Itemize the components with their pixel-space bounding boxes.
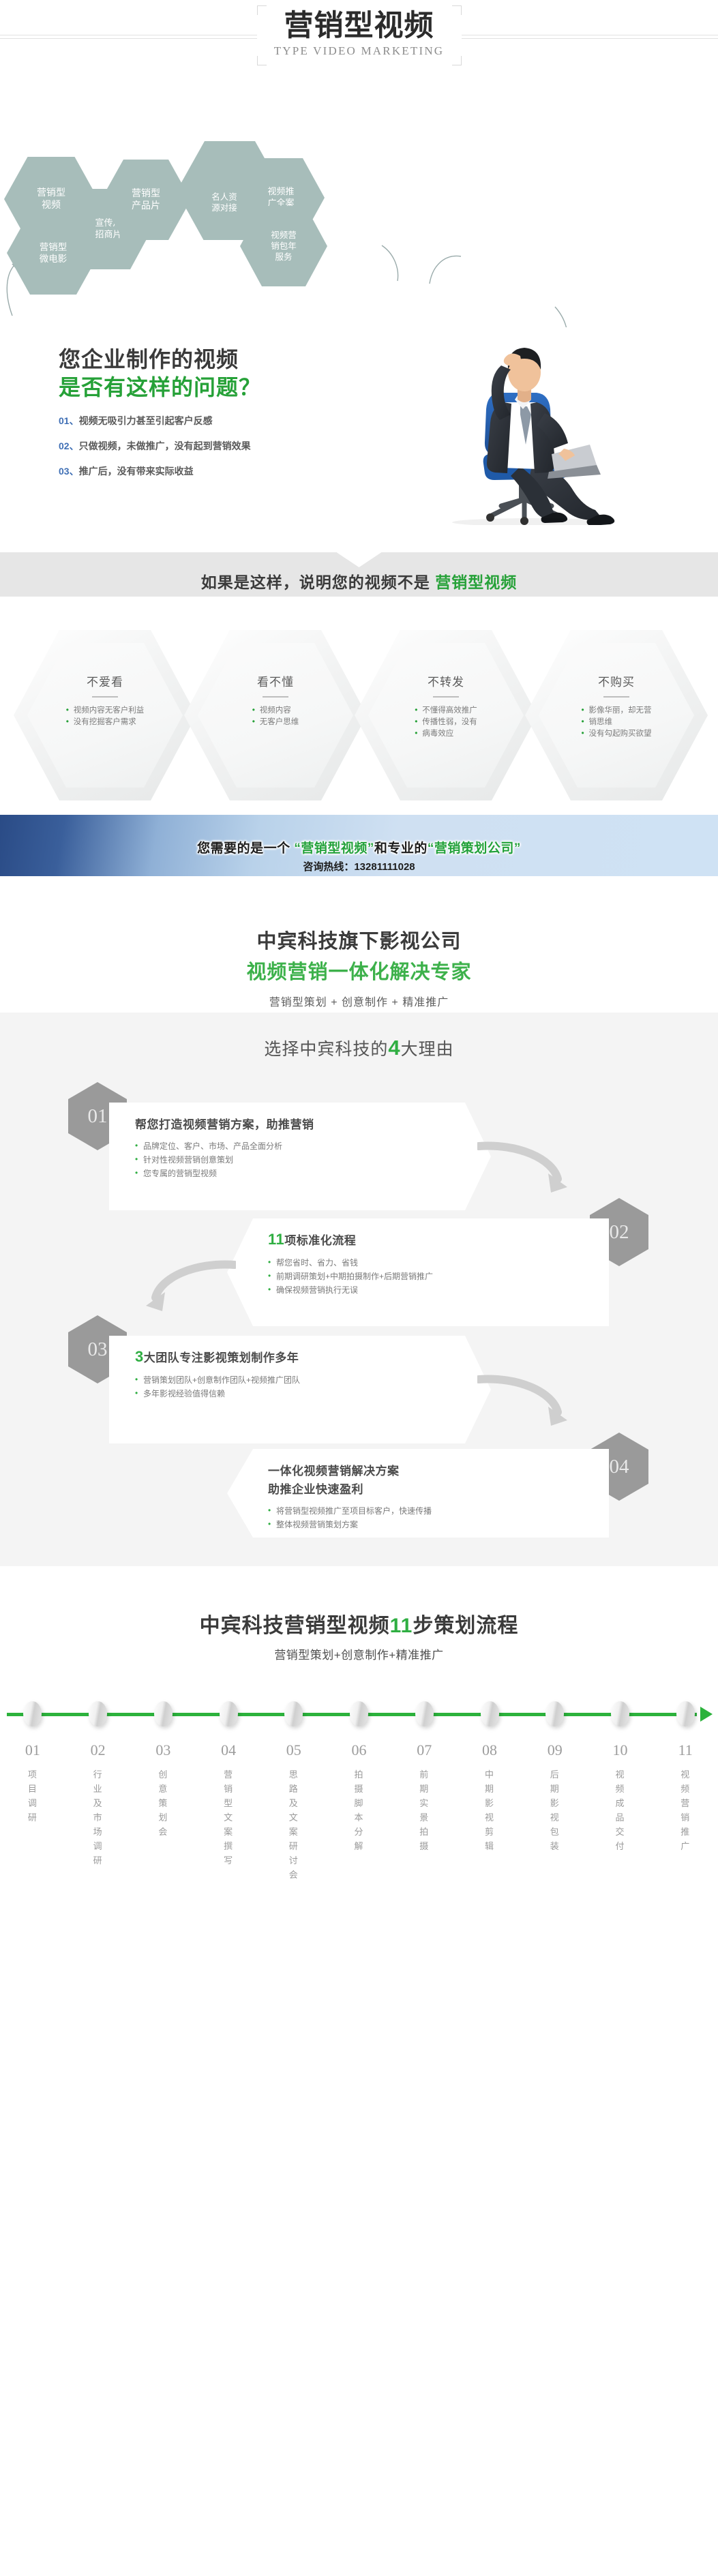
corner-bracket-bottom-right: [452, 56, 462, 65]
question-section: 您企业制作的视频 是否有这样的问题？ 01、视频无吸引力甚至引起客户反感 02、…: [0, 327, 718, 539]
question-item-1-text: 只做视频，未做推广，没有起到营销效果: [79, 440, 251, 451]
flow-step-3-dot-icon: [220, 1701, 238, 1726]
reason-card-0-bullet-2: 您专属的营销型视频: [135, 1167, 491, 1180]
blue-banner-hotline: 咨询热线：13281111028: [0, 859, 718, 873]
gray-banner-text: 如果是这样，说明您的视频不是 营销型视频: [0, 569, 718, 593]
hex-item-4-line-0: 名人资: [211, 192, 237, 203]
reason-card-3-heading: 一体化视频营销解决方案: [268, 1461, 609, 1478]
flow-step-3-label: 营 销 型 文 案 撰 写: [196, 1767, 261, 1868]
flow-step-10-label: 视 频 营 销 推 广: [653, 1767, 718, 1853]
company-headline-line3: 营销型策划 + 创意制作 + 精准推广: [0, 993, 718, 1009]
hex-item-2-line-1: 产品片: [132, 200, 160, 212]
flow-step-6-num: 07: [391, 1741, 457, 1759]
reason-card-3[interactable]: 一体化视频营销解决方案 助推企业快速盈利 将营销型视频推广至项目标客户，快速传播…: [227, 1449, 609, 1538]
page-header: 营销型视频 TYPE VIDEO MARKETING: [0, 0, 718, 102]
reason-card-0-list: 品牌定位、客户、市场、产品全面分析 针对性视频营销创意策划 您专属的营销型视频: [135, 1139, 491, 1180]
reason-card-2-bullet-0: 营销策划团队+创意制作团队+视频推广团队: [135, 1373, 491, 1387]
flow-step-7[interactable]: 08 中 期 影 视 剪 辑: [457, 1695, 522, 1882]
reason-card-0[interactable]: 帮您打造视频营销方案，助推营销 品牌定位、客户、市场、产品全面分析 针对性视频营…: [109, 1103, 491, 1210]
problem-card-3-bullet-2: 没有勾起购买欲望: [582, 728, 652, 740]
flow-step-1-dot-icon: [89, 1701, 107, 1726]
flow-step-1-label: 行 业 及 市 场 调 研: [65, 1767, 131, 1868]
reason-card-1[interactable]: 11项标准化流程 帮您省时、省力、省钱 前期调研策划+中期拍摄制作+后期营销推广…: [227, 1218, 609, 1326]
flow-title-pre: 中宾科技营销型视频: [200, 1615, 390, 1637]
flow-step-0-dot-icon: [23, 1701, 42, 1726]
flow-step-2-num: 03: [130, 1741, 196, 1759]
reason-card-1-bullet-0: 帮您省时、省力、省钱: [268, 1256, 609, 1270]
problem-card-0-bullet-1: 没有挖掘客户需求: [66, 717, 145, 728]
flow-step-3[interactable]: 04 营 销 型 文 案 撰 写: [196, 1695, 261, 1882]
problem-card-2-bullet-0: 不懂得高效推广: [415, 705, 477, 717]
problem-card-2-title: 不转发: [355, 672, 537, 689]
reasons-title-post: 大理由: [401, 1040, 454, 1059]
problem-card-1-bullet-1: 无客户思维: [252, 717, 299, 728]
flow-title-num: 11: [390, 1615, 413, 1637]
header-title-box: 营销型视频 TYPE VIDEO MARKETING: [257, 5, 462, 65]
blue-banner-section: 您需要的是一个 “营销型视频”和专业的“营销策划公司” 咨询热线：1328111…: [0, 808, 718, 910]
flow-step-9[interactable]: 10 视 频 成 品 交 付: [588, 1695, 653, 1882]
flow-subtitle: 营销型策划+创意制作+精准推广: [0, 1645, 718, 1662]
hex-item-7-line-1: 销包年: [271, 241, 297, 252]
reason-curve-1: [140, 1253, 236, 1314]
gray-banner-section: 如果是这样，说明您的视频不是 营销型视频: [0, 539, 718, 627]
company-headline-section: 中宾科技旗下影视公司 视频营销一体化解决专家 营销型策划 + 创意制作 + 精准…: [0, 910, 718, 1013]
question-heading-line2: 是否有这样的问题？: [59, 370, 261, 402]
blue-banner-seg1: 您需要的是一个: [197, 841, 294, 856]
hex-item-4-line-1: 源对接: [211, 203, 237, 213]
problem-card-2-bullet-1: 传播性弱，没有: [415, 717, 477, 728]
reasons-title-num: 4: [388, 1036, 400, 1060]
corner-bracket-top-left: [257, 5, 267, 15]
flow-step-4-label: 思 路 及 文 案 研 讨 会: [261, 1767, 327, 1882]
company-headline-line2: 视频营销一体化解决专家: [0, 956, 718, 985]
gray-banner-prefix: 如果是这样，说明您的视频不是: [201, 573, 435, 591]
gray-banner-highlight: 营销型视频: [435, 573, 517, 591]
reason-card-3-bullet-0: 将营销型视频推广至项目标客户，快速传播: [268, 1504, 609, 1518]
flow-step-8-num: 09: [522, 1741, 588, 1759]
flow-step-2[interactable]: 03 创 意 策 划 会: [130, 1695, 196, 1882]
flow-timeline: 01 项 目 调 研 02 行 业 及 市 场 调 研 03 创 意 策 划 会…: [0, 1695, 718, 1981]
flow-step-5-dot-icon: [350, 1701, 368, 1726]
question-item-0-text: 视频无吸引力甚至引起客户反感: [79, 415, 213, 426]
service-hexagon-cloud: 营销型 视频 宣传片 招商片 营销型 产品片 营销型 广告片 名人资: [0, 102, 718, 327]
flow-step-6[interactable]: 07 前 期 实 景 拍 摄: [391, 1695, 457, 1882]
problem-card-1[interactable]: 看不懂 视频内容 无客户思维: [184, 630, 367, 800]
problem-card-3-bullet-1: 销思维: [582, 717, 652, 728]
reason-card-2-list: 营销策划团队+创意制作团队+视频推广团队 多年影视经验值得信赖: [135, 1373, 491, 1401]
problem-card-3-list: 影像华丽，却无营 销思维 没有勾起购买欲望: [582, 705, 652, 740]
blue-banner-quote2: “营销策划公司”: [428, 841, 521, 856]
problem-card-2-list: 不懂得高效推广 传播性弱，没有 病毒效应: [415, 705, 477, 740]
flow-step-5-num: 06: [327, 1741, 392, 1759]
flow-step-4-num: 05: [261, 1741, 327, 1759]
flow-step-5-label: 拍 摄 脚 本 分 解: [327, 1767, 392, 1853]
blue-banner-headline: 您需要的是一个 “营销型视频”和专业的“营销策划公司”: [0, 838, 718, 856]
page-title: 营销型视频: [257, 8, 462, 44]
businessman-photo: [418, 327, 643, 525]
problem-card-3-bullet-0: 影像华丽，却无营: [582, 705, 652, 717]
flow-step-10[interactable]: 11 视 频 营 销 推 广: [653, 1695, 718, 1882]
hex-item-5-line-0: 视频推: [267, 186, 294, 198]
flow-step-1[interactable]: 02 行 业 及 市 场 调 研: [65, 1695, 131, 1882]
problem-card-3-divider: [603, 696, 629, 698]
reason-card-1-heading-num: 11: [268, 1231, 284, 1248]
flow-step-8[interactable]: 09 后 期 影 视 包 装: [522, 1695, 588, 1882]
question-item-2-text: 推广后，没有带来实际收益: [79, 466, 194, 477]
blue-banner-quote1: “营销型视频”: [294, 841, 374, 856]
reason-row-2: 03 3大团队专注影视策划制作多年 营销策划团队+创意制作团队+视频推广团队 多…: [0, 1313, 718, 1430]
problem-card-1-bullet-0: 视频内容: [252, 705, 299, 717]
problem-card-2-divider: [433, 696, 459, 698]
problems-section: 不爱看 视频内容无客户利益 没有挖掘客户需求 看不懂 视频内容 无客户思维: [0, 627, 718, 808]
hex-item-0-line-0: 营销型: [37, 187, 65, 199]
flow-step-10-dot-icon: [676, 1701, 695, 1726]
hex-item-7-line-2: 服务: [271, 252, 297, 263]
reason-card-1-heading: 11项标准化流程: [268, 1231, 609, 1248]
flow-step-6-dot-icon: [415, 1701, 434, 1726]
reason-row-3: 04 一体化视频营销解决方案 助推企业快速盈利 将营销型视频推广至项目标客户，快…: [0, 1430, 718, 1532]
flow-step-2-dot-icon: [154, 1701, 173, 1726]
reason-row-0: 01 帮您打造视频营销方案，助推营销 品牌定位、客户、市场、产品全面分析 针对性…: [0, 1078, 718, 1195]
corner-bracket-top-right: [452, 5, 462, 15]
question-item-2: 03、推广后，没有带来实际收益: [59, 464, 251, 478]
flow-step-9-num: 10: [588, 1741, 653, 1759]
reason-row-1: 02 11项标准化流程 帮您省时、省力、省钱 前期调研策划+中期拍摄制作+后期营…: [0, 1195, 718, 1313]
landing-page: 营销型视频 TYPE VIDEO MARKETING 营销型 视频: [0, 0, 718, 1988]
question-list: 01、视频无吸引力甚至引起客户反感 02、只做视频，未做推广，没有起到营销效果 …: [59, 414, 251, 490]
flow-step-list: 01 项 目 调 研 02 行 业 及 市 场 调 研 03 创 意 策 划 会…: [0, 1695, 718, 1882]
hex-item-2-line-0: 营销型: [132, 188, 160, 200]
company-headline-line1: 中宾科技旗下影视公司: [0, 925, 718, 954]
problem-card-3[interactable]: 不购买 影像华丽，却无营 销思维 没有勾起购买欲望: [525, 630, 708, 800]
problem-card-0-divider: [92, 696, 118, 698]
page-subtitle-en: TYPE VIDEO MARKETING: [257, 44, 462, 58]
reason-card-1-bullet-1: 前期调研策划+中期拍摄制作+后期营销推广: [268, 1270, 609, 1283]
reason-card-1-heading-text: 项标准化流程: [284, 1234, 356, 1247]
question-heading-line1: 您企业制作的视频: [59, 342, 239, 374]
reason-card-0-bullet-0: 品牌定位、客户、市场、产品全面分析: [135, 1139, 491, 1153]
reason-card-2-heading: 3大团队专注影视策划制作多年: [135, 1348, 491, 1366]
flow-step-9-label: 视 频 成 品 交 付: [588, 1767, 653, 1853]
flow-title: 中宾科技营销型视频11步策划流程: [0, 1608, 718, 1638]
hex-item-6-line-0: 营销型: [40, 241, 68, 253]
flow-title-post: 步策划流程: [413, 1615, 518, 1637]
flow-step-6-label: 前 期 实 景 拍 摄: [391, 1767, 457, 1853]
corner-bracket-bottom-left: [257, 56, 267, 65]
flow-step-2-label: 创 意 策 划 会: [130, 1767, 196, 1839]
reason-card-3-list: 将营销型视频推广至项目标客户，快速传播 整体视频营销策划方案: [268, 1504, 609, 1531]
reason-card-2-bullet-1: 多年影视经验值得信赖: [135, 1387, 491, 1401]
flow-step-8-dot-icon: [545, 1701, 564, 1726]
reason-card-3-bullet-1: 整体视频营销策划方案: [268, 1518, 609, 1531]
reasons-section: 选择中宾科技的4大理由 01 帮您打造视频营销方案，助推营销 品牌定位、客户、市…: [0, 1013, 718, 1566]
question-item-1-num: 02、: [59, 440, 79, 451]
problem-card-0-title: 不爱看: [14, 672, 196, 689]
flow-step-8-label: 后 期 影 视 包 装: [522, 1767, 588, 1853]
flow-step-9-dot-icon: [611, 1701, 629, 1726]
reason-card-2-heading-num: 3: [135, 1348, 144, 1365]
question-item-0-num: 01、: [59, 415, 79, 426]
reasons-title: 选择中宾科技的4大理由: [0, 1036, 718, 1060]
reasons-title-pre: 选择中宾科技的: [264, 1040, 388, 1059]
flow-step-4-dot-icon: [284, 1701, 303, 1726]
reason-card-0-heading: 帮您打造视频营销方案，助推营销: [135, 1115, 491, 1132]
reason-card-1-list: 帮您省时、省力、省钱 前期调研策划+中期拍摄制作+后期营销推广 确保视频营销执行…: [268, 1256, 609, 1297]
flow-step-10-num: 11: [653, 1741, 718, 1759]
problem-card-2-bullet-2: 病毒效应: [415, 728, 477, 740]
problem-card-3-title: 不购买: [525, 672, 708, 689]
hex-item-6-line-1: 微电影: [40, 253, 68, 265]
reason-curve-2: [477, 1367, 573, 1428]
question-item-1: 02、只做视频，未做推广，没有起到营销效果: [59, 439, 251, 453]
problem-card-1-title: 看不懂: [184, 672, 367, 689]
hex-item-0-line-1: 视频: [37, 199, 65, 211]
question-item-2-num: 03、: [59, 466, 79, 477]
flow-step-7-label: 中 期 影 视 剪 辑: [457, 1767, 522, 1853]
flow-step-0[interactable]: 01 项 目 调 研: [0, 1695, 65, 1882]
hex-item-1-line-1: 招商片: [95, 229, 121, 241]
flow-step-0-num: 01: [0, 1741, 65, 1759]
hex-item-7-line-0: 视频营: [271, 230, 297, 241]
reason-curve-0: [477, 1134, 573, 1195]
flow-step-7-num: 08: [457, 1741, 522, 1759]
problem-card-1-list: 视频内容 无客户思维: [252, 705, 299, 728]
reason-card-1-bullet-2: 确保视频营销执行无误: [268, 1283, 609, 1297]
problem-card-2[interactable]: 不转发 不懂得高效推广 传播性弱，没有 病毒效应: [355, 630, 537, 800]
flow-step-1-num: 02: [65, 1741, 131, 1759]
flow-step-3-num: 04: [196, 1741, 261, 1759]
flow-step-0-label: 项 目 调 研: [0, 1767, 65, 1825]
problem-card-0-list: 视频内容无客户利益 没有挖掘客户需求: [66, 705, 145, 728]
reason-card-2[interactable]: 3大团队专注影视策划制作多年 营销策划团队+创意制作团队+视频推广团队 多年影视…: [109, 1336, 491, 1443]
question-item-0: 01、视频无吸引力甚至引起客户反感: [59, 414, 251, 428]
reason-card-3-heading2: 助推企业快速盈利: [268, 1480, 609, 1497]
flow-section: 中宾科技营销型视频11步策划流程 营销型策划+创意制作+精准推广 01 项 目 …: [0, 1566, 718, 1988]
reason-card-0-bullet-1: 针对性视频营销创意策划: [135, 1153, 491, 1167]
flow-step-5[interactable]: 06 拍 摄 脚 本 分 解: [327, 1695, 392, 1882]
blue-banner-seg2: 和专业的: [374, 841, 428, 856]
problem-card-0-bullet-0: 视频内容无客户利益: [66, 705, 145, 717]
problem-card-1-divider: [263, 696, 288, 698]
problem-card-0[interactable]: 不爱看 视频内容无客户利益 没有挖掘客户需求: [14, 630, 196, 800]
flow-step-4[interactable]: 05 思 路 及 文 案 研 讨 会: [261, 1695, 327, 1882]
reason-card-2-heading-text: 大团队专注影视策划制作多年: [144, 1351, 299, 1364]
flow-step-7-dot-icon: [481, 1701, 499, 1726]
